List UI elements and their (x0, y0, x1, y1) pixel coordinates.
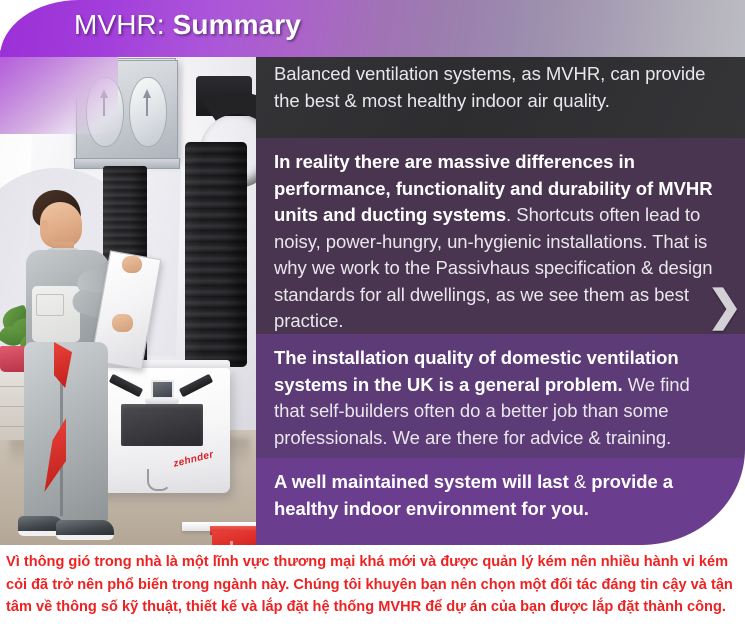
summary-block-1-body: Balanced ventilation systems, as MVHR, c… (274, 63, 705, 111)
page-title-main: Summary (173, 9, 301, 40)
mvhr-display-panel (151, 380, 174, 399)
caption-text: Vì thông gió trong nhà là một lĩnh vực t… (0, 545, 745, 627)
banner-header: MVHR: Summary (0, 0, 745, 57)
technician-hand-upper (122, 256, 142, 273)
mvhr-brand-label: zehnder (172, 449, 215, 470)
technician-hand-lower (112, 314, 133, 332)
page-title: MVHR: Summary (74, 9, 301, 41)
page-title-prefix: MVHR: (74, 9, 165, 40)
technician-shoe-right (56, 520, 114, 540)
heat-exchanger-port-right (129, 77, 167, 147)
technician-pocket (36, 294, 64, 316)
technician-ear (40, 220, 49, 231)
summary-block-4-lead: A well maintained system will last (274, 471, 569, 492)
airflow-arrow-icon (143, 89, 151, 98)
summary-block-2: In reality there are massive differences… (256, 138, 745, 334)
summary-block-4-amp: & (569, 471, 591, 492)
airflow-arrow-stem (146, 98, 148, 116)
mvhr-summary-banner: MVHR: Summary (0, 0, 745, 545)
summary-block-3-lead: The installation quality of domestic ven… (274, 347, 679, 395)
summary-text-blocks: Balanced ventilation systems, as MVHR, c… (256, 50, 745, 545)
red-toolbox (212, 531, 256, 545)
summary-block-2-text: In reality there are massive differences… (274, 149, 723, 335)
summary-block-4: A well maintained system will last & pro… (256, 458, 745, 545)
summary-block-3: The installation quality of domestic ven… (256, 334, 745, 458)
toolbox-latch (230, 541, 233, 545)
summary-block-1-text: Balanced ventilation systems, as MVHR, c… (274, 61, 723, 114)
technician-figure (12, 190, 152, 545)
mvhr-installation-photo: zehnder (0, 50, 256, 545)
summary-block-3-text: The installation quality of domestic ven… (274, 345, 723, 451)
next-slide-arrow-icon[interactable]: ❯ (707, 286, 735, 326)
summary-block-4-text: A well maintained system will last & pro… (274, 469, 723, 522)
duct-vertical-right (185, 142, 247, 367)
photo-purple-overlay (0, 50, 118, 134)
summary-block-1: Balanced ventilation systems, as MVHR, c… (256, 50, 745, 138)
mvhr-vent-right (179, 374, 213, 397)
